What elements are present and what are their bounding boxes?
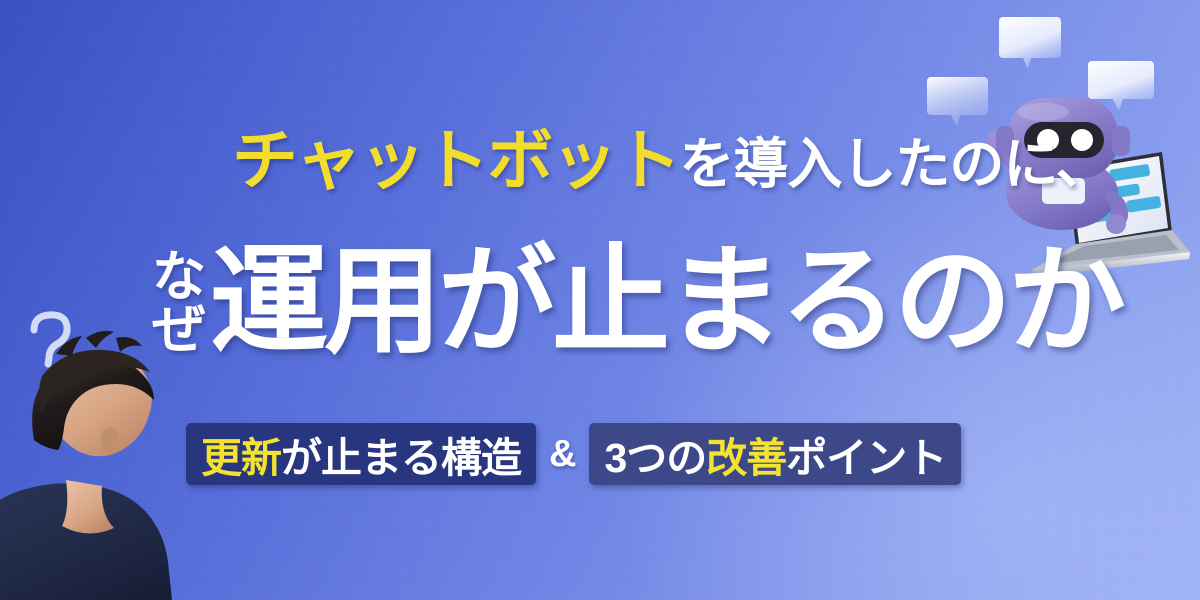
badge-right-pre: 3つの: [604, 424, 706, 484]
badge-left-rest: が止まる構造: [281, 424, 521, 484]
badge-improvement-points: 3つの改善ポイント: [589, 423, 961, 485]
person-looking-up-photo: [0, 280, 244, 600]
headline-line-1: チャットボットを導入したのに、: [232, 127, 1110, 193]
hero-banner: チャットボットを導入したのに、 な ぜ 運用が止まるのか 更新が止まる構造 & …: [0, 0, 1200, 600]
headline-line-1-rest: を導入したのに、: [679, 133, 1109, 195]
headline-line-2: な ぜ 運用が止まるのか: [152, 243, 1122, 361]
subtitle-row: 更新が止まる構造 & 3つの改善ポイント: [186, 423, 961, 485]
badge-separator-ampersand: &: [536, 433, 589, 476]
badge-right-post: ポイント: [786, 424, 946, 484]
headline-highlight-chatbot: チャットボット: [232, 123, 679, 197]
badge-right-highlight: 改善: [706, 424, 786, 484]
headline-line-2-main: 運用が止まるのか: [210, 243, 1122, 361]
